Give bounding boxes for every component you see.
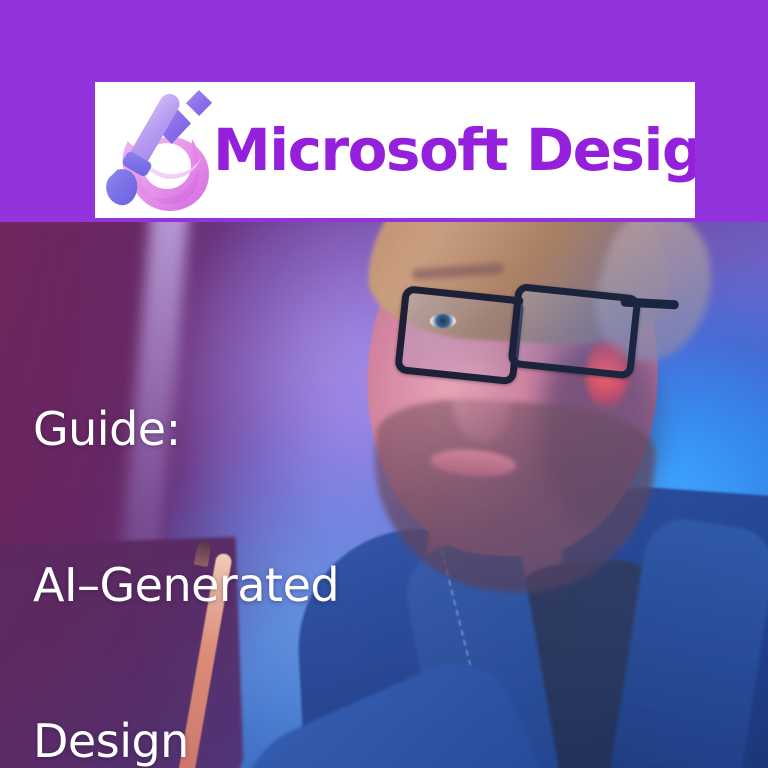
headline-line-2: AI–Generated	[33, 560, 339, 612]
microsoft-designer-logo-icon	[95, 82, 221, 218]
eye	[430, 314, 456, 328]
logo-card[interactable]: Microsoft Designer	[95, 82, 695, 218]
headline-line-3: Design	[33, 716, 339, 768]
logo-wordmark: Microsoft Designer	[213, 121, 695, 179]
eyeglass-lens-right	[507, 283, 641, 380]
poster-canvas: Guide: AI–Generated Design Statements	[0, 0, 768, 768]
headline-line-1: Guide:	[33, 404, 339, 456]
page-title: Guide: AI–Generated Design Statements	[33, 300, 339, 768]
